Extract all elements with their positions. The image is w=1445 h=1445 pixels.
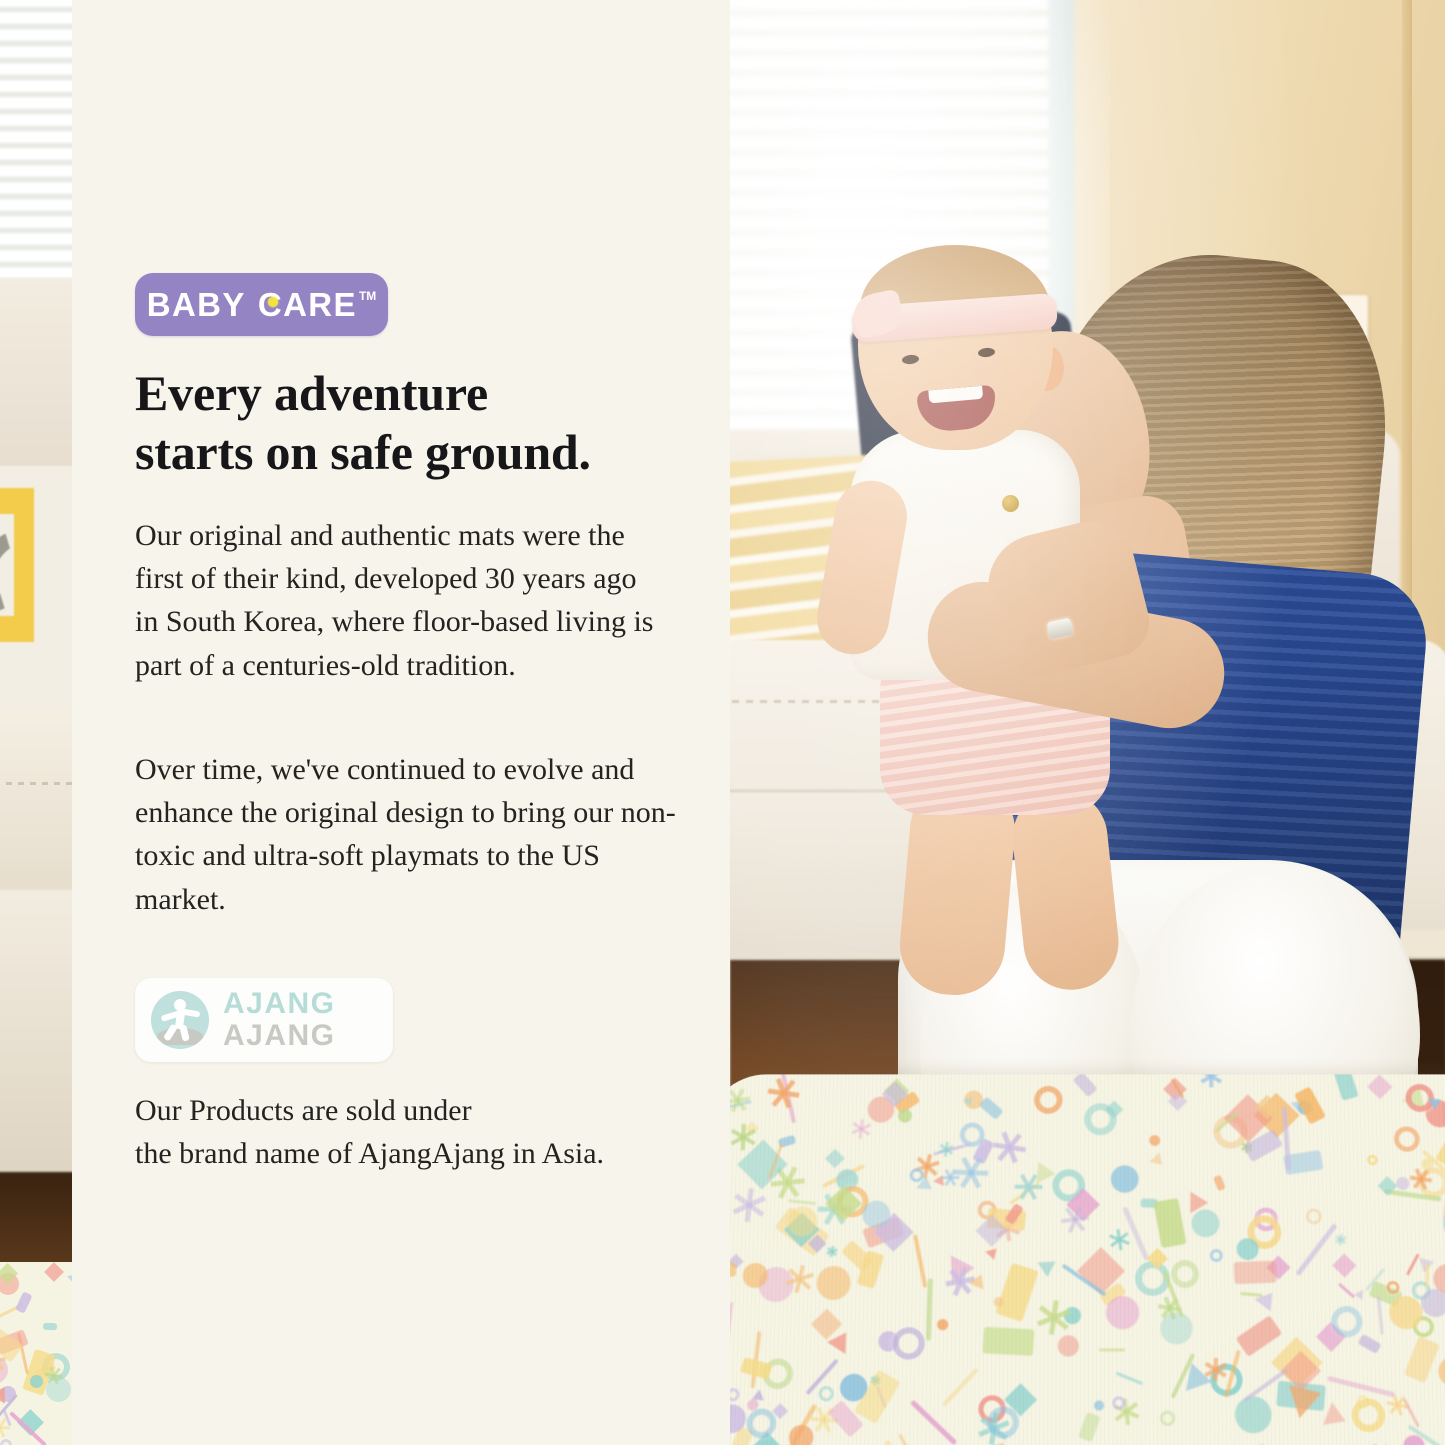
- body-paragraph-1: Our original and authentic mats were the…: [135, 514, 655, 687]
- sofa-seam-sliver: [0, 782, 72, 785]
- baby-top-button-1: [1002, 495, 1019, 512]
- sofa-back-sliver: [0, 278, 72, 468]
- sofa-seat-sliver: [0, 712, 72, 892]
- body-paragraph-2: Over time, we've continued to evolve and…: [135, 748, 683, 921]
- ajang-word-bottom: AJANG: [223, 1021, 336, 1051]
- baby-care-logo: BABY C ARE TM: [135, 273, 388, 336]
- photo-sliver-left: [0, 0, 72, 1445]
- sofa-front-sliver: [0, 890, 72, 1175]
- logo-letter-c: C: [258, 288, 283, 321]
- trademark-symbol: TM: [359, 290, 376, 302]
- floor-sliver: [0, 1172, 72, 1270]
- content-panel: BABY C ARE TM Every adventure starts on …: [72, 0, 730, 1445]
- partner-note-line-1: Our Products are sold under: [135, 1094, 472, 1127]
- logo-dot-icon: [268, 297, 278, 307]
- logo-word-are: ARE: [283, 288, 357, 321]
- playmat: [730, 1074, 1445, 1445]
- window-sliver: [0, 0, 72, 280]
- headline-line-2: starts on safe ground.: [135, 423, 735, 482]
- partner-note-line-2: the brand name of AjangAjang in Asia.: [135, 1133, 715, 1176]
- page-title: Every adventure starts on safe ground.: [135, 364, 735, 482]
- playmat-sliver: [0, 1262, 72, 1445]
- brand-panel-page: BABY C ARE TM Every adventure starts on …: [0, 0, 1445, 1445]
- patterned-pillow-sliver: [0, 466, 72, 716]
- ajang-word-top: AJANG: [223, 989, 336, 1019]
- ajang-wordmark: AJANG AJANG: [223, 989, 336, 1051]
- baby-care-wordmark: BABY C ARE TM: [147, 288, 377, 321]
- ajang-figure-icon: [151, 991, 209, 1049]
- ajang-ajang-logo: AJANG AJANG: [135, 978, 393, 1062]
- logo-word-baby: BABY: [147, 288, 246, 321]
- lifestyle-photo: [730, 0, 1445, 1445]
- headline-line-1: Every adventure: [135, 365, 488, 421]
- partner-note: Our Products are sold under the brand na…: [135, 1090, 715, 1175]
